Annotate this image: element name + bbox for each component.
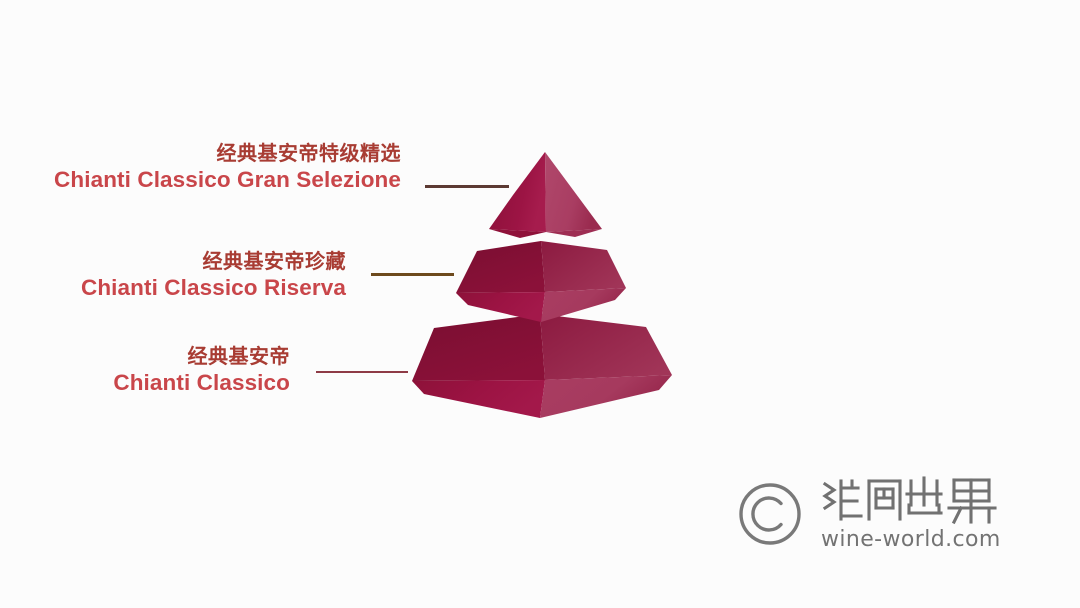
label-gran-selezione: 经典基安帝特级精选 Chianti Classico Gran Selezion… [54, 142, 401, 194]
leader-line-classico [316, 371, 408, 373]
diagram-canvas: 经典基安帝特级精选 Chianti Classico Gran Selezion… [0, 0, 1080, 608]
label-gran-selezione-cn: 经典基安帝特级精选 [54, 142, 401, 166]
tier-top-face-right [545, 152, 602, 232]
leader-line-gran-selezione [425, 185, 509, 188]
pyramid-tier-middle [456, 241, 626, 322]
label-classico-cn: 经典基安帝 [113, 345, 290, 369]
leader-line-riserva [371, 273, 454, 276]
label-classico: 经典基安帝 Chianti Classico [113, 345, 290, 397]
tier-middle-face-right [541, 288, 626, 322]
label-riserva: 经典基安帝珍藏 Chianti Classico Riserva [81, 250, 346, 302]
pyramid-tier-bottom [412, 314, 672, 418]
tier-bottom-face-left [412, 380, 545, 418]
copyright-icon [737, 481, 803, 547]
watermark-text: wine-world.com [821, 475, 1017, 552]
tier-middle-top-face-right [541, 241, 626, 292]
tier-bottom-face-right [540, 375, 672, 418]
label-riserva-en: Chianti Classico Riserva [81, 274, 346, 301]
tier-middle-face-left [456, 292, 545, 322]
tier-bottom-top-face-right [540, 314, 672, 380]
tier-bottom-top-face-left [412, 314, 545, 381]
label-gran-selezione-en: Chianti Classico Gran Selezione [54, 166, 401, 193]
tier-top-face-left [489, 152, 546, 232]
brand-url: wine-world.com [821, 527, 1001, 552]
watermark: wine-world.com [737, 471, 1037, 556]
tier-middle-top-face-left [456, 241, 545, 293]
label-classico-en: Chianti Classico [113, 369, 290, 396]
label-riserva-cn: 经典基安帝珍藏 [81, 250, 346, 274]
pyramid-tier-top [489, 152, 602, 238]
brand-logo-cn [821, 475, 1017, 525]
